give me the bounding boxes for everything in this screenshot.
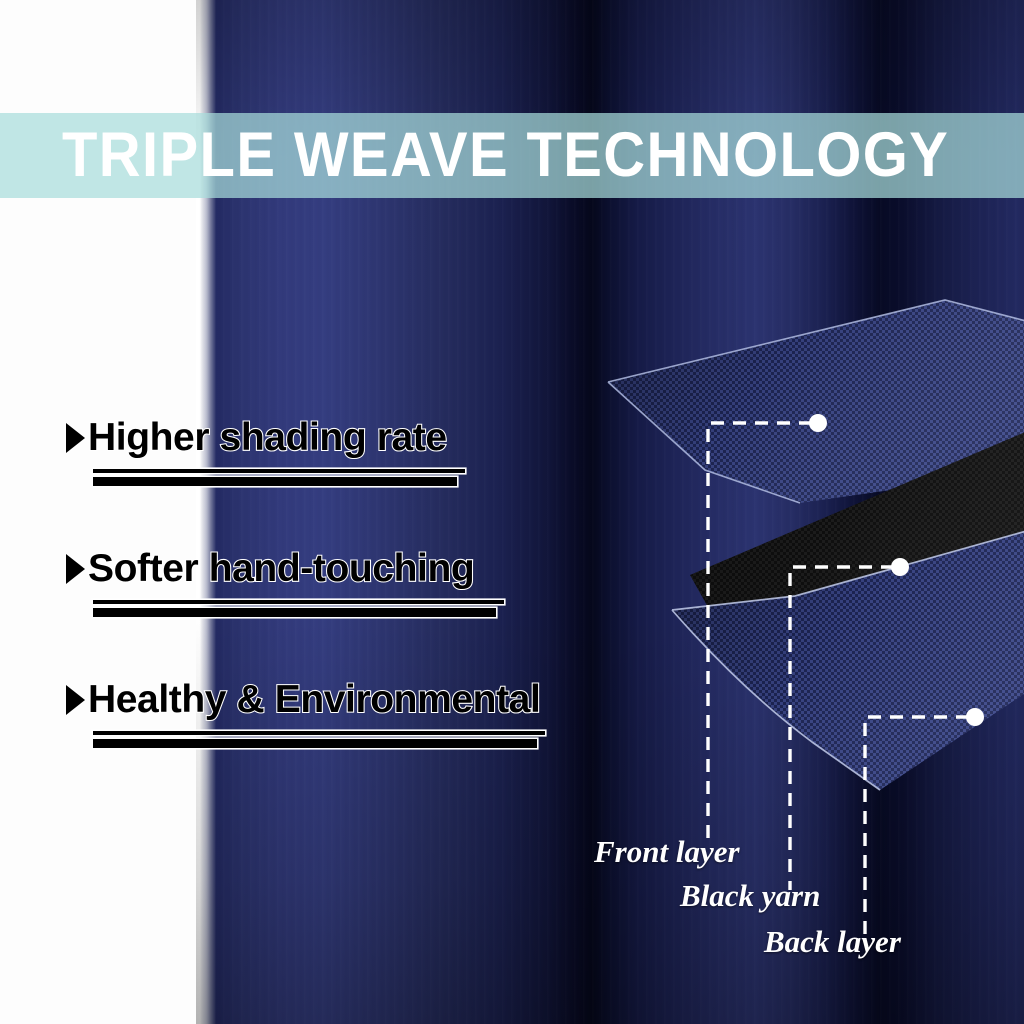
rule-thick-bar bbox=[93, 739, 537, 748]
triangle-bullet-icon bbox=[66, 554, 85, 584]
feature-underline-rule bbox=[66, 731, 586, 748]
label-front-layer: Front layer bbox=[594, 836, 740, 867]
rule-thin-line bbox=[93, 469, 465, 473]
feature-item-softer-hand-touching: Softer hand-touching bbox=[66, 549, 586, 617]
rule-thick-bar bbox=[93, 477, 457, 486]
feature-label: Healthy & Environmental bbox=[88, 680, 540, 719]
feature-item-healthy-environmental: Healthy & Environmental bbox=[66, 680, 586, 748]
rule-thick-bar bbox=[93, 608, 496, 617]
label-black-yarn: Black yarn bbox=[680, 880, 820, 911]
banner-title-text: TRIPLE WEAVE TECHNOLOGY bbox=[62, 124, 949, 187]
feature-list: Higher shading rate Softer hand-touching… bbox=[66, 418, 586, 811]
triangle-bullet-icon bbox=[66, 423, 85, 453]
feature-underline-rule bbox=[66, 469, 586, 486]
rule-thin-line bbox=[93, 731, 545, 735]
triangle-bullet-icon bbox=[66, 685, 85, 715]
feature-label: Softer hand-touching bbox=[88, 549, 474, 588]
title-banner: TRIPLE WEAVE TECHNOLOGY bbox=[0, 113, 1024, 198]
rule-thin-line bbox=[93, 600, 504, 604]
feature-underline-rule bbox=[66, 600, 586, 617]
product-image-canvas: Front layer Black yarn Back layer TRIPLE… bbox=[0, 0, 1024, 1024]
feature-label: Higher shading rate bbox=[88, 418, 447, 457]
feature-item-higher-shading-rate: Higher shading rate bbox=[66, 418, 586, 486]
label-back-layer: Back layer bbox=[764, 926, 901, 957]
